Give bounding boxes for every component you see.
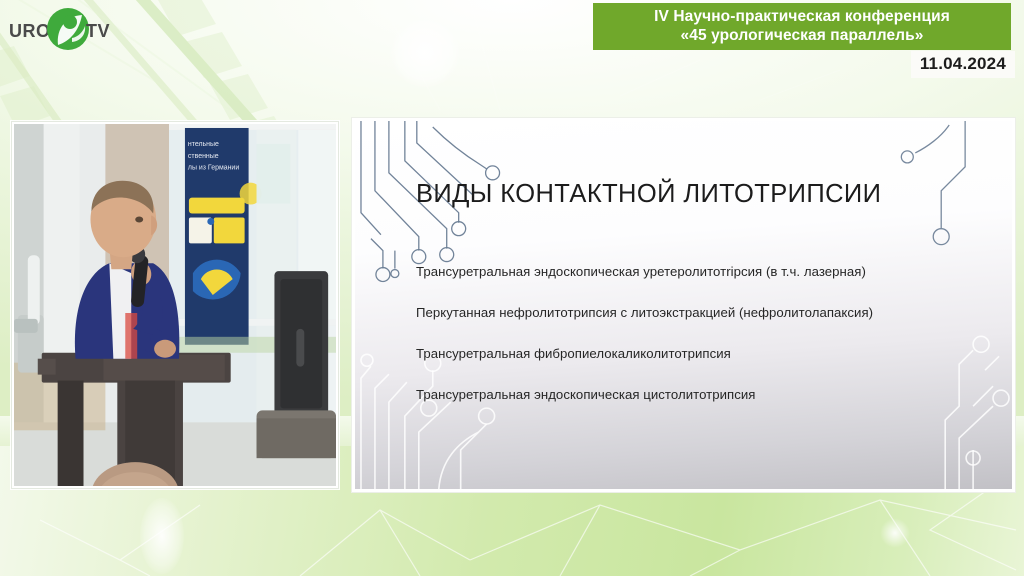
svg-text:лы из Германии: лы из Германии [188, 165, 239, 172]
uro-tv-logo[interactable]: URO TV [6, 4, 118, 54]
uro-tv-leaf-emblem [47, 8, 89, 50]
svg-text:ственные: ственные [188, 153, 219, 160]
uro-tv-logo-svg: URO TV [6, 4, 118, 54]
slide-title: ВИДЫ КОНТАКТНОЙ ЛИТОТРИПСИИ [416, 179, 881, 209]
conference-title-line1: IV Научно-практическая конференция [654, 7, 950, 26]
presentation-slide-panel[interactable]: ВИДЫ КОНТАКТНОЙ ЛИТОТРИПСИИ Трансуретрал… [351, 117, 1016, 493]
slide-bullet-list: Трансуретральная эндоскопическая уретеро… [416, 263, 992, 403]
slide-bullet-2: Перкутанная нефролитотрипсия с литоэкстр… [416, 304, 992, 321]
background-glow-top [390, 18, 460, 88]
speaker-photo: нтельные ственные лы из Германии [14, 124, 336, 486]
slide-bullet-4: Трансуретральная эндоскопическая цистоли… [416, 386, 992, 403]
slide-bullet-3: Трансуретральная фибропиелокаликолитотри… [416, 345, 992, 362]
conference-date-badge: 11.04.2024 [911, 51, 1015, 78]
slide-canvas: ВИДЫ КОНТАКТНОЙ ЛИТОТРИПСИИ Трансуретрал… [355, 121, 1012, 489]
conference-title-banner: IV Научно-практическая конференция «45 у… [593, 3, 1011, 50]
logo-text-uro: URO [9, 21, 51, 41]
svg-text:нтельные: нтельные [188, 141, 219, 148]
background-glow-bottom-right [880, 518, 910, 548]
presentation-stage: URO TV IV Научно-практическая конференци… [0, 0, 1024, 576]
logo-text-tv: TV [86, 21, 110, 41]
conference-title-line2: «45 урологическая параллель» [681, 26, 924, 45]
slide-bullet-1: Трансуретральная эндоскопическая уретеро… [416, 263, 992, 280]
speaker-photo-illustration: нтельные ственные лы из Германии [14, 124, 336, 486]
speaker-video-panel[interactable]: нтельные ственные лы из Германии [11, 121, 339, 489]
background-glow-bottom-left [140, 498, 184, 574]
